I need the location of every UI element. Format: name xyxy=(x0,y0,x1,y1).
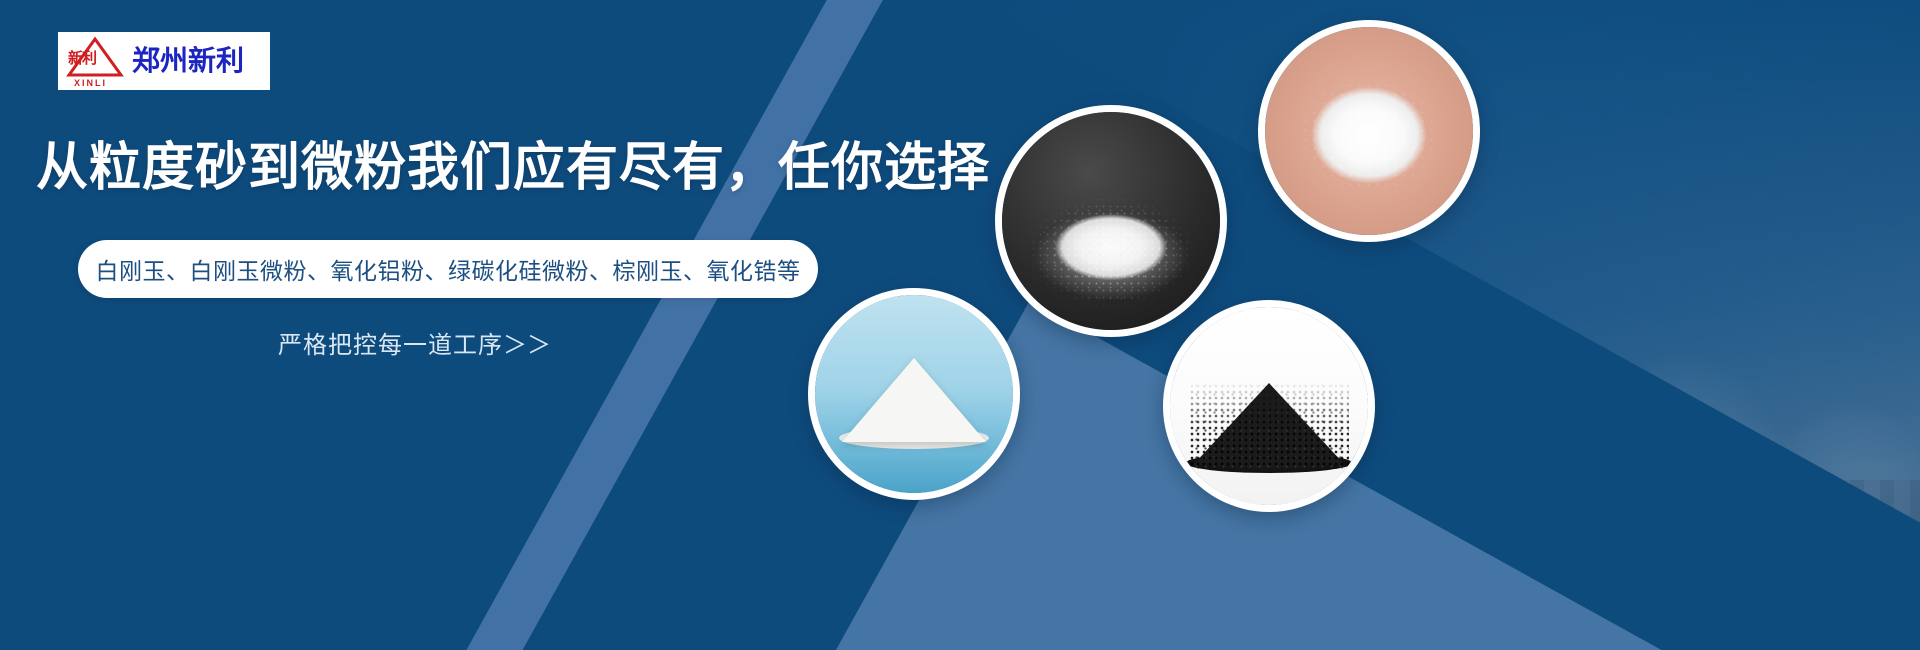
cta-label: 严格把控每一道工序 xyxy=(278,331,503,359)
photo-image xyxy=(1265,27,1473,235)
product-list-pill[interactable]: 白刚玉、白刚玉微粉、氧化铝粉、绿碳化硅微粉、棕刚玉、氧化锆等 xyxy=(78,240,818,298)
product-photo-white-fused-alumina-grain[interactable] xyxy=(995,105,1227,337)
cta-arrows-icon: ＞＞ xyxy=(503,331,551,359)
product-photo-white-powder-cone[interactable] xyxy=(808,288,1020,500)
logo-triangle-icon: 新利 XINLI xyxy=(64,35,126,87)
grit-pile-texture xyxy=(1189,377,1349,469)
company-name-text: 郑州新利 xyxy=(132,47,244,75)
promo-banner: 新利 XINLI 郑州新利 从粒度砂到微粉我们应有尽有，任你选择 白刚玉、白刚玉… xyxy=(0,0,1920,650)
photo-image xyxy=(815,295,1013,493)
photo-image xyxy=(1170,307,1368,505)
product-list-text: 白刚玉、白刚玉微粉、氧化铝粉、绿碳化硅微粉、棕刚玉、氧化锆等 xyxy=(96,252,801,286)
product-photo-black-silicon-carbide-grit[interactable] xyxy=(1163,300,1375,512)
powder-cone xyxy=(842,358,986,442)
cta-link[interactable]: 严格把控每一道工序＞＞ xyxy=(278,325,551,360)
company-logo[interactable]: 新利 XINLI 郑州新利 xyxy=(58,32,270,90)
logo-latin-text: XINLI xyxy=(74,79,107,88)
banner-headline: 从粒度砂到微粉我们应有尽有，任你选择 xyxy=(36,140,990,196)
photo-image xyxy=(1002,112,1220,330)
logo-mark-text: 新利 xyxy=(68,51,96,66)
product-photo-white-alumina-micropowder[interactable] xyxy=(1258,20,1480,242)
